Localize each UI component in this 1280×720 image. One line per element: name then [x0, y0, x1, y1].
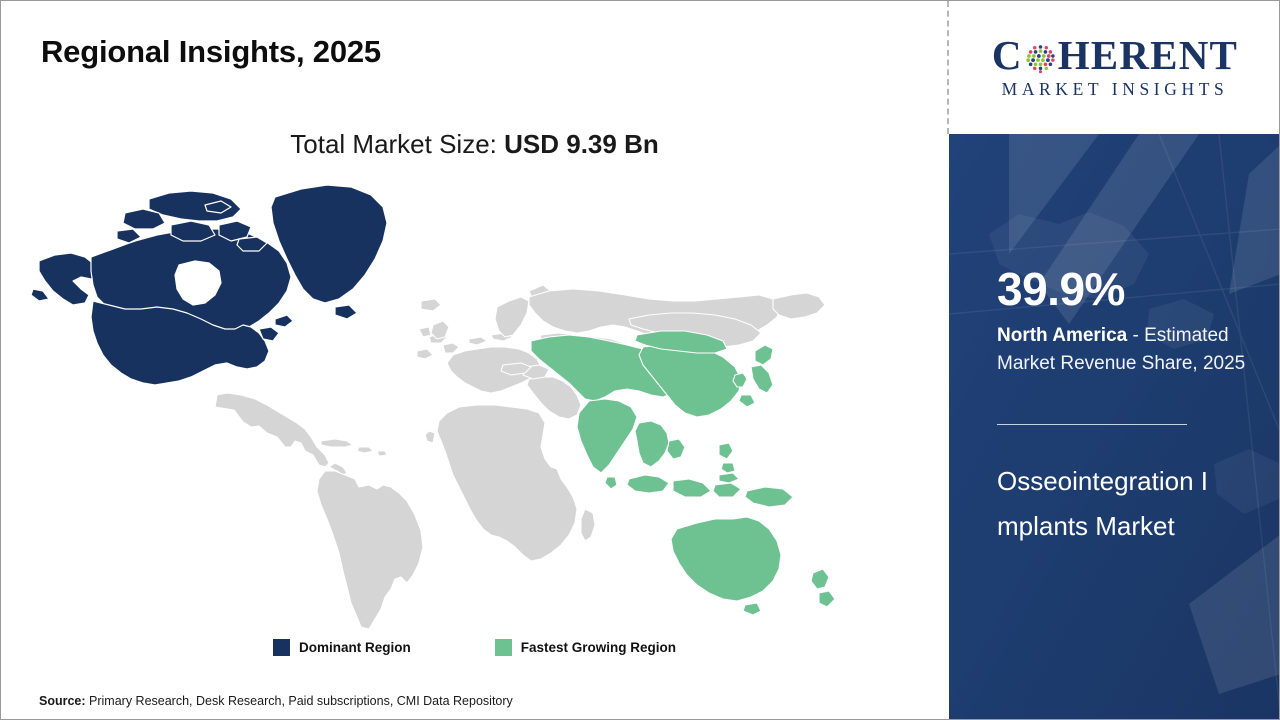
brand-tagline: MARKET INSIGHTS: [1002, 79, 1229, 100]
brand-name-part1: C: [992, 35, 1023, 76]
total-market-size: Total Market Size: USD 9.39 Bn: [1, 129, 948, 160]
page-title: Regional Insights, 2025: [41, 34, 381, 70]
map-region-north-america: [31, 185, 387, 385]
world-map: [29, 179, 859, 629]
legend-item-fastest-growing-region: Fastest Growing Region: [495, 639, 676, 656]
stat-panel-content: 39.9% North America - Estimated Market R…: [997, 134, 1267, 720]
legend-swatch-fastest-growing-region: [495, 639, 512, 656]
source-text: Primary Research, Desk Research, Paid su…: [86, 694, 513, 708]
stat-panel: 39.9% North America - Estimated Market R…: [949, 134, 1280, 720]
legend-label-dominant-region: Dominant Region: [299, 640, 411, 655]
source-label: Source:: [39, 694, 86, 708]
brand-wordmark: C: [992, 35, 1238, 76]
brand-name-part2: HERENT: [1058, 35, 1238, 76]
map-legend: Dominant Region Fastest Growing Region: [1, 639, 948, 656]
market-name: Osseointegration Implants Market: [997, 459, 1219, 548]
legend-swatch-dominant-region: [273, 639, 290, 656]
globe-dots-icon: [1024, 41, 1057, 74]
legend-label-fastest-growing-region: Fastest Growing Region: [521, 640, 676, 655]
stat-percentage: 39.9%: [997, 266, 1125, 312]
brand-logo-area: C: [949, 1, 1280, 134]
map-region-asia-pacific: [531, 331, 835, 615]
stat-region-name: North America: [997, 325, 1127, 346]
stat-description: North America - Estimated Market Revenue…: [997, 322, 1263, 378]
source-line: Source: Primary Research, Desk Research,…: [39, 694, 513, 708]
world-map-svg: [29, 179, 859, 629]
market-size-value: USD 9.39 Bn: [504, 129, 659, 159]
stat-panel-divider: [997, 424, 1187, 425]
market-size-label: Total Market Size:: [290, 129, 504, 159]
brand-logo: C: [965, 35, 1265, 100]
legend-item-dominant-region: Dominant Region: [273, 639, 411, 656]
regional-insights-infographic: Regional Insights, 2025 Total Market Siz…: [0, 0, 1280, 720]
left-content-panel: Regional Insights, 2025 Total Market Siz…: [1, 1, 948, 720]
globe-dots-svg: [1024, 42, 1057, 75]
